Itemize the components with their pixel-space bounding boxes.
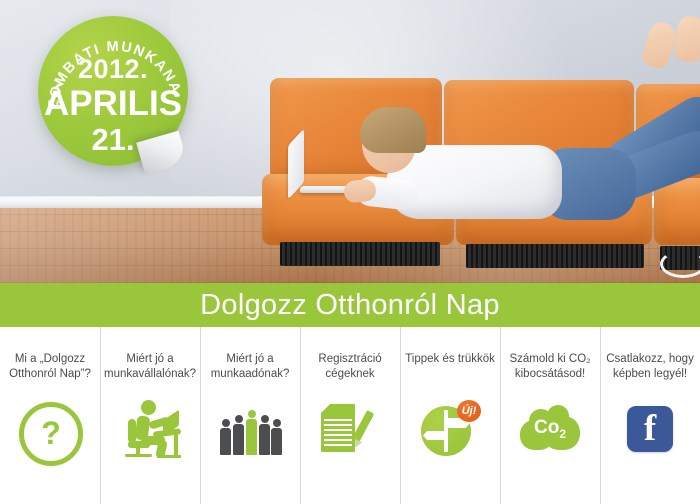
sticker-year: 2012. xyxy=(38,56,188,83)
hero-photo: SZOMBATI MUNKANAP 2012. ÁPRILIS 21. xyxy=(0,0,700,283)
document-pen-icon xyxy=(319,398,381,460)
nav-item-label: Számold ki CO₂ kibocsátásod! xyxy=(500,352,600,384)
people-figure xyxy=(233,415,244,455)
people-figure-highlighted xyxy=(246,410,257,455)
power-cable xyxy=(660,250,700,278)
sofa-plinth xyxy=(466,244,644,268)
sidebar-item-mi-a-dolgozz-otthonrol-nap[interactable]: Mi a „Dolgozz Otthonról Nap”? ? xyxy=(0,327,100,504)
new-badge-label: Új! xyxy=(462,405,477,417)
person-hair xyxy=(360,107,426,153)
sofa-plinth xyxy=(280,242,440,266)
page-root: SZOMBATI MUNKANAP 2012. ÁPRILIS 21. Dolg… xyxy=(0,0,700,504)
co2-cloud-label: Co2 xyxy=(519,418,581,440)
main-banner: Dolgozz Otthonról Nap xyxy=(0,283,700,327)
person-at-desk-icon xyxy=(119,398,181,460)
people-figure xyxy=(259,415,270,455)
nav-item-label: Tippek és trükkök xyxy=(401,352,499,384)
facebook-f-glyph: f xyxy=(627,406,673,452)
facebook-icon[interactable]: f xyxy=(619,398,681,460)
nav-item-label: Csatlakozz, hogy képben legyél! xyxy=(600,352,700,384)
question-mark-glyph: ? xyxy=(41,417,61,449)
people-group-icon xyxy=(219,398,281,460)
co2-subscript: 2 xyxy=(559,427,566,441)
date-sticker-badge: SZOMBATI MUNKANAP 2012. ÁPRILIS 21. xyxy=(38,16,188,166)
nav-item-label: Miért jó a munkaadónak? xyxy=(200,352,300,384)
signpost-icon: Új! xyxy=(419,398,481,460)
nav-item-label: Regisztráció cégeknek xyxy=(300,352,400,384)
sidebar-item-miert-jo-a-munkaadonak[interactable]: Miért jó a munkaadónak? xyxy=(200,327,300,504)
sidebar-item-csatlakozz-facebook[interactable]: Csatlakozz, hogy képben legyél! f xyxy=(600,327,700,504)
sticker-month: ÁPRILIS xyxy=(38,86,188,121)
sidebar-item-tippek-es-trukkok[interactable]: Tippek és trükkök Új! xyxy=(400,327,500,504)
sticker-day: 21. xyxy=(38,124,188,155)
co2-cloud-icon: Co2 xyxy=(519,398,581,460)
page-title: Dolgozz Otthonról Nap xyxy=(200,289,500,322)
people-figure xyxy=(271,419,282,455)
sidebar-item-miert-jo-a-munkavallalonak[interactable]: Miért jó a munkavállalónak? xyxy=(100,327,200,504)
nav-strip: Mi a „Dolgozz Otthonról Nap”? ? Miért jó… xyxy=(0,327,700,504)
sidebar-item-regisztracio-cegeknek[interactable]: Regisztráció cégeknek xyxy=(300,327,400,504)
question-mark-icon: ? xyxy=(19,398,81,460)
nav-item-label: Mi a „Dolgozz Otthonról Nap”? xyxy=(0,352,100,384)
co2-text: Co xyxy=(534,417,559,438)
people-figure xyxy=(220,419,231,455)
sidebar-item-szamold-ki-co2-kibocsatasod[interactable]: Számold ki CO₂ kibocsátásod! Co2 xyxy=(500,327,600,504)
new-badge: Új! xyxy=(457,400,481,422)
sticker-date-block: 2012. ÁPRILIS 21. xyxy=(38,56,188,155)
nav-item-label: Miért jó a munkavállalónak? xyxy=(100,352,200,384)
